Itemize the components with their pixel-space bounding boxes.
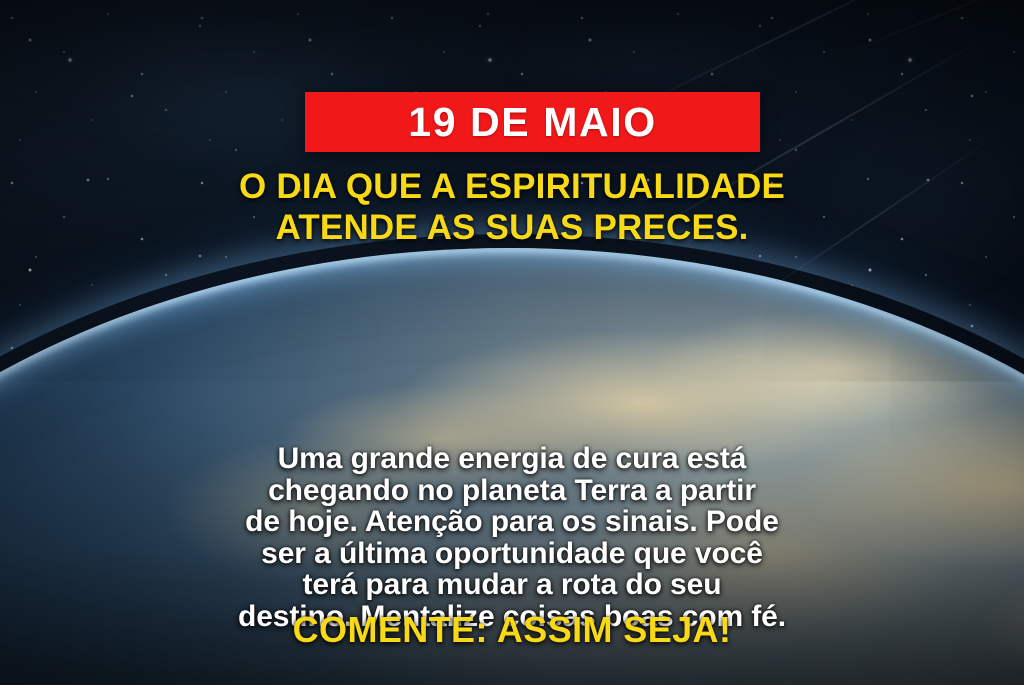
body-line-4: ser a última oportunidade que você bbox=[67, 538, 957, 570]
poster: 19 DE MAIO O DIA QUE A ESPIRITUALIDADE A… bbox=[0, 0, 1024, 685]
headline-line-2: ATENDE AS SUAS PRECES. bbox=[0, 207, 1024, 248]
body-line-1: Uma grande energia de cura está bbox=[67, 443, 957, 475]
date-banner-label: 19 DE MAIO bbox=[408, 102, 656, 143]
poster-content: 19 DE MAIO O DIA QUE A ESPIRITUALIDADE A… bbox=[0, 0, 1024, 685]
body-line-5: terá para mudar a rota do seu bbox=[67, 569, 957, 601]
date-banner: 19 DE MAIO bbox=[305, 92, 760, 152]
headline: O DIA QUE A ESPIRITUALIDADE ATENDE AS SU… bbox=[0, 166, 1024, 248]
body-line-2: chegando no planeta Terra a partir bbox=[67, 475, 957, 507]
body-line-3: de hoje. Atenção para os sinais. Pode bbox=[67, 506, 957, 538]
body-paragraph: Uma grande energia de cura está chegando… bbox=[67, 443, 957, 632]
call-to-action-text: COMENTE: ASSIM SEJA! bbox=[0, 612, 1024, 648]
headline-line-1: O DIA QUE A ESPIRITUALIDADE bbox=[0, 166, 1024, 207]
